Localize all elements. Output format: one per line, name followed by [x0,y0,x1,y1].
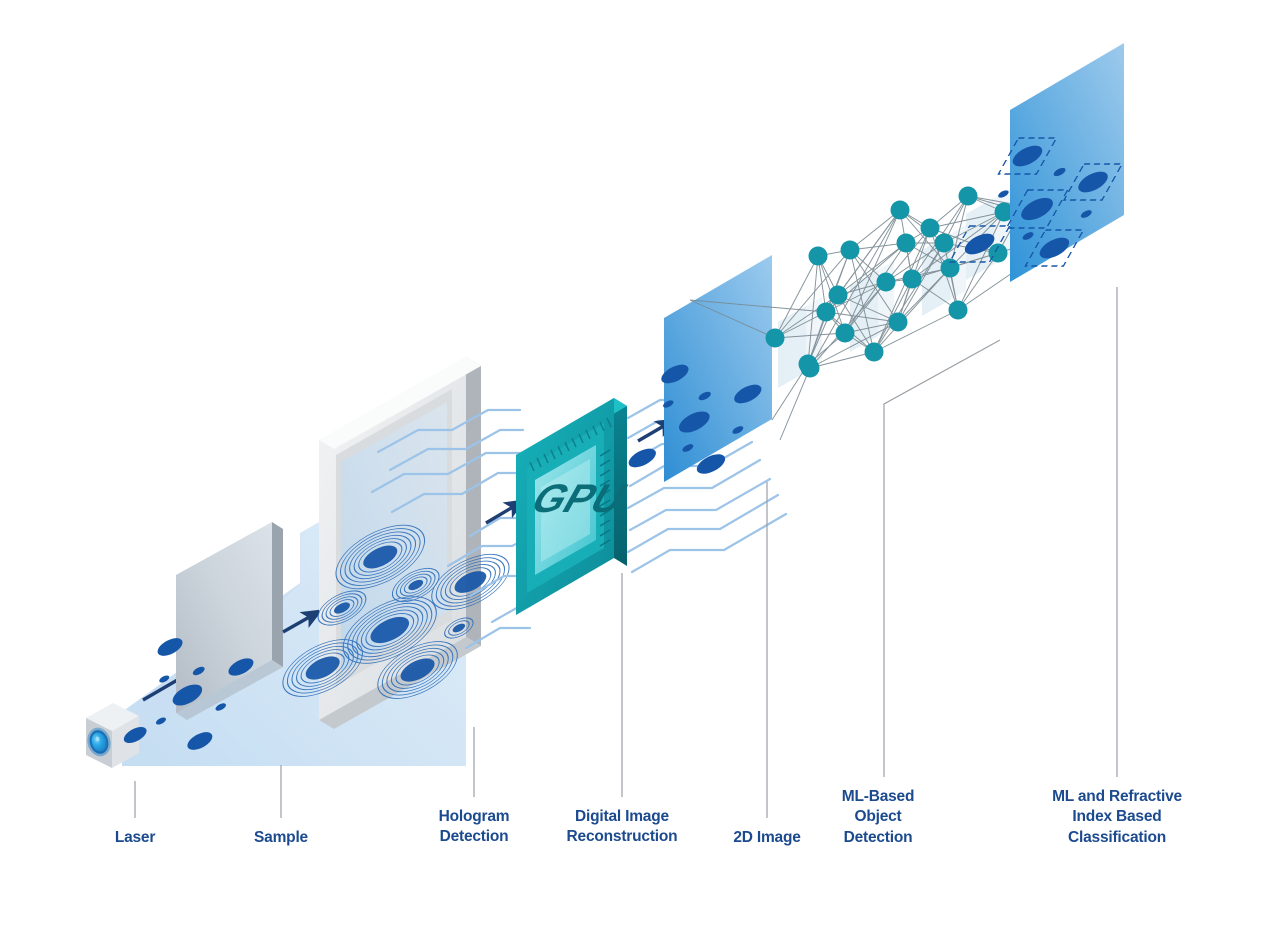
stage-label-ml-refractive-index-classification: ML and Refractive Index Based Classifica… [1052,787,1182,848]
diagram-canvas: GPU [0,0,1280,943]
stage-label-laser: Laser [115,828,155,848]
stage-label-2d-image: 2D Image [733,828,800,848]
leader-detection [884,340,1000,777]
stage-label-hologram-detection: Hologram Detection [439,807,510,848]
panel-classification [947,43,1136,282]
stage-label-digital-image-reconstruction: Digital Image Reconstruction [567,807,678,848]
stage-label-sample: Sample [254,828,308,848]
stage-label-ml-based-object-detection: ML-Based Object Detection [842,787,914,848]
panel-2d-image [604,255,783,482]
gpu-chip: GPU [516,398,636,615]
